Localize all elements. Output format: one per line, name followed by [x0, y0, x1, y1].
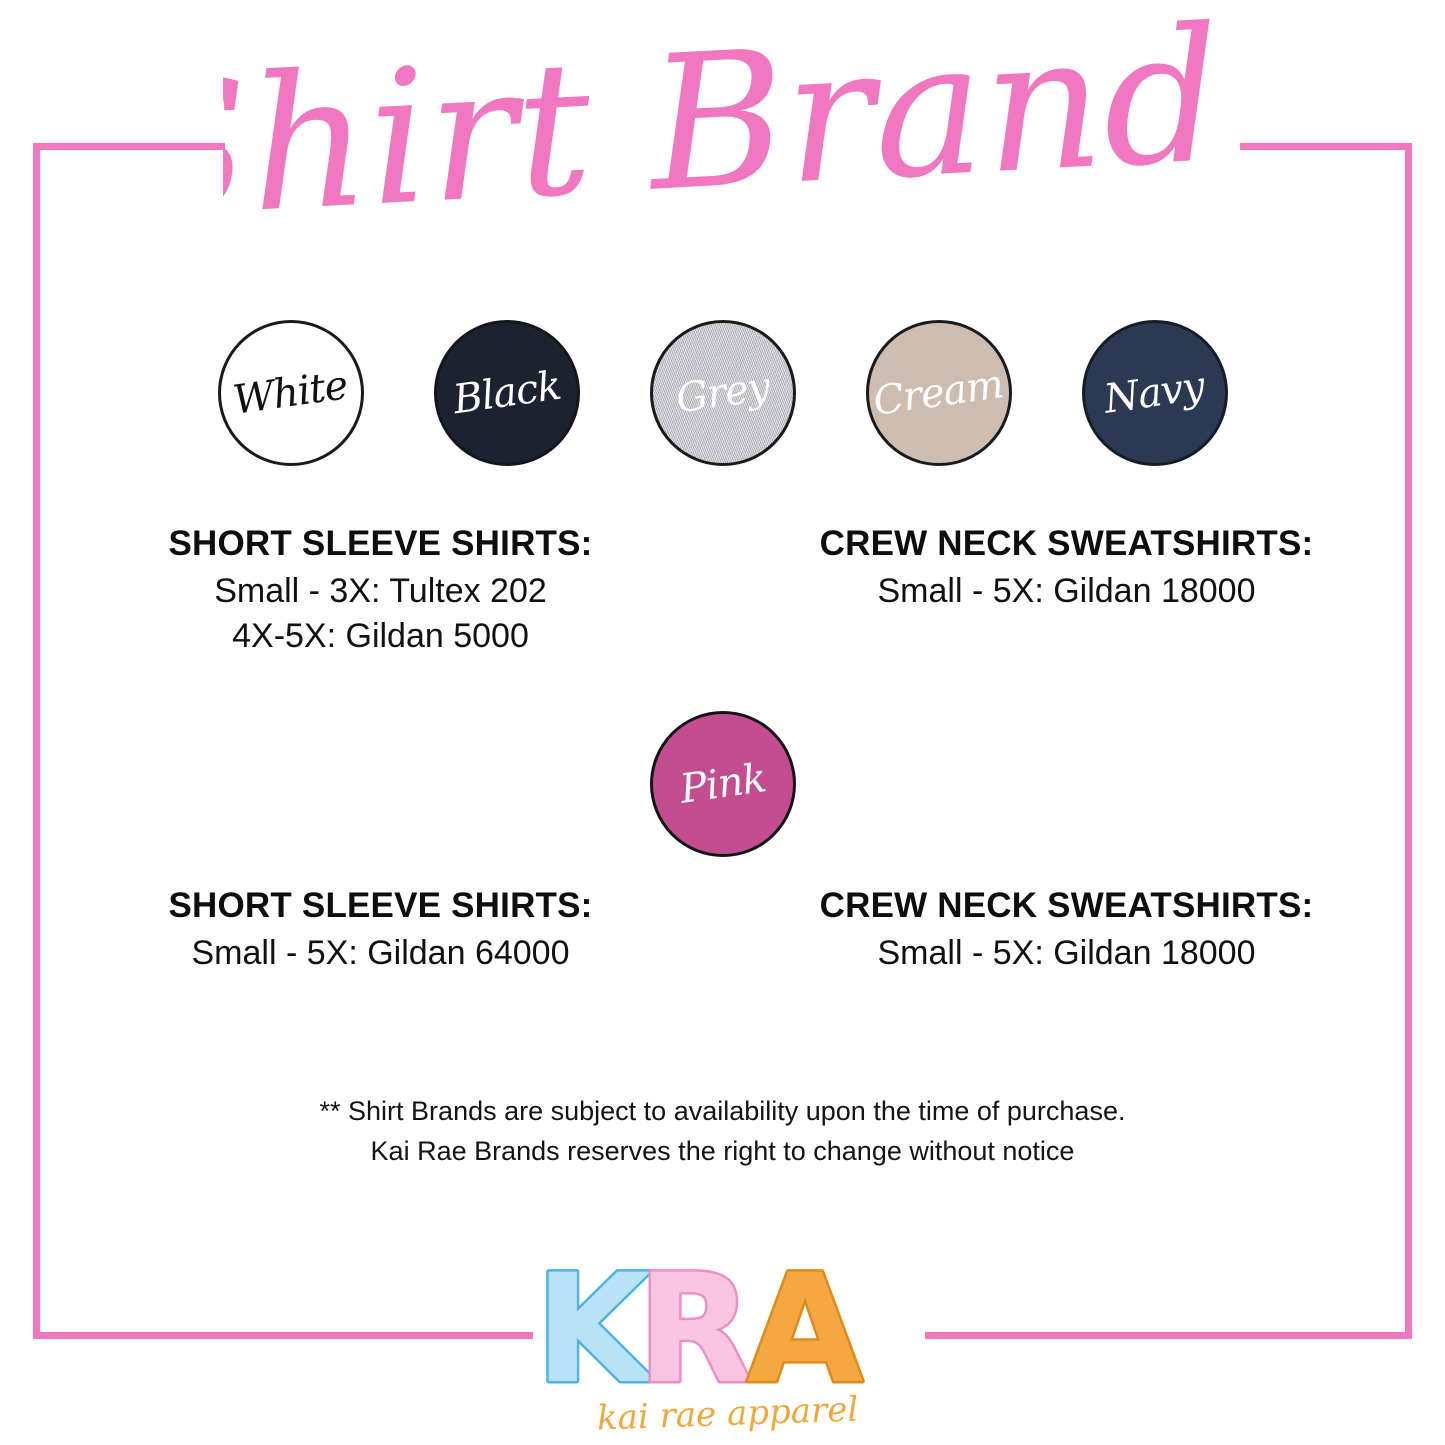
brand-logo: K R A kai rae apparel — [0, 1243, 1445, 1443]
color-swatch-pink[interactable]: Pink — [650, 711, 796, 857]
brand-info-pink-short-sleeve: SHORT SLEEVE SHIRTS: Small - 5X: Gildan … — [83, 886, 723, 979]
color-swatch-cream[interactable]: Cream — [866, 320, 1012, 466]
pink-crew-neck-heading: CREW NECK SWEATSHIRTS: — [771, 886, 1363, 926]
disclaimer-line-2: Kai Rae Brands reserves the right to cha… — [0, 1136, 1445, 1167]
color-swatch-navy-label: Navy — [1102, 366, 1207, 420]
pink-short-sleeve-heading: SHORT SLEEVE SHIRTS: — [83, 886, 679, 926]
kra-logo-artwork: K R A kai rae apparel — [523, 1243, 923, 1443]
pink-crew-neck-line-1: Small - 5X: Gildan 18000 — [771, 934, 1363, 973]
color-swatch-white[interactable]: White — [218, 320, 364, 466]
title-text: Shirt Brands — [223, 10, 1223, 260]
crew-neck-heading: CREW NECK SWEATSHIRTS: — [771, 524, 1363, 564]
logo-letter-r: R — [637, 1243, 753, 1417]
color-swatch-row-neutral: White Black Grey Cream Navy — [0, 320, 1445, 466]
crew-neck-line-1: Small - 5X: Gildan 18000 — [771, 572, 1363, 611]
short-sleeve-line-2: 4X-5X: Gildan 5000 — [83, 617, 679, 656]
disclaimer: ** Shirt Brands are subject to availabil… — [0, 1096, 1445, 1176]
color-swatch-black-label: Black — [450, 366, 562, 421]
color-swatch-white-label: White — [231, 365, 350, 421]
color-swatch-cream-label: Cream — [871, 364, 1005, 422]
frame-border-top-right — [1240, 143, 1412, 150]
pink-short-sleeve-line-1: Small - 5X: Gildan 64000 — [83, 934, 679, 973]
color-swatch-row-pink: Pink — [0, 711, 1445, 857]
short-sleeve-heading: SHORT SLEEVE SHIRTS: — [83, 524, 679, 564]
color-swatch-grey[interactable]: Grey — [650, 320, 796, 466]
brand-info-pink: SHORT SLEEVE SHIRTS: Small - 5X: Gildan … — [0, 886, 1445, 979]
logo-tagline: kai rae apparel — [596, 1389, 859, 1438]
color-swatch-black[interactable]: Black — [434, 320, 580, 466]
brand-info-neutral-crew-neck: CREW NECK SWEATSHIRTS: Small - 5X: Gilda… — [723, 524, 1363, 662]
short-sleeve-line-1: Small - 3X: Tultex 202 — [83, 572, 679, 611]
brand-info-pink-crew-neck: CREW NECK SWEATSHIRTS: Small - 5X: Gilda… — [723, 886, 1363, 979]
title-script-artwork: Shirt Brands — [223, 10, 1223, 260]
page-title: Shirt Brands — [0, 10, 1445, 260]
brand-info-neutral-short-sleeve: SHORT SLEEVE SHIRTS: Small - 3X: Tultex … — [83, 524, 723, 662]
color-swatch-pink-label: Pink — [677, 758, 767, 810]
disclaimer-line-1: ** Shirt Brands are subject to availabil… — [0, 1096, 1445, 1127]
frame-border-top-left — [33, 143, 225, 150]
color-swatch-navy[interactable]: Navy — [1082, 320, 1228, 466]
color-swatch-grey-label: Grey — [673, 367, 771, 420]
brand-info-neutral: SHORT SLEEVE SHIRTS: Small - 3X: Tultex … — [0, 524, 1445, 662]
